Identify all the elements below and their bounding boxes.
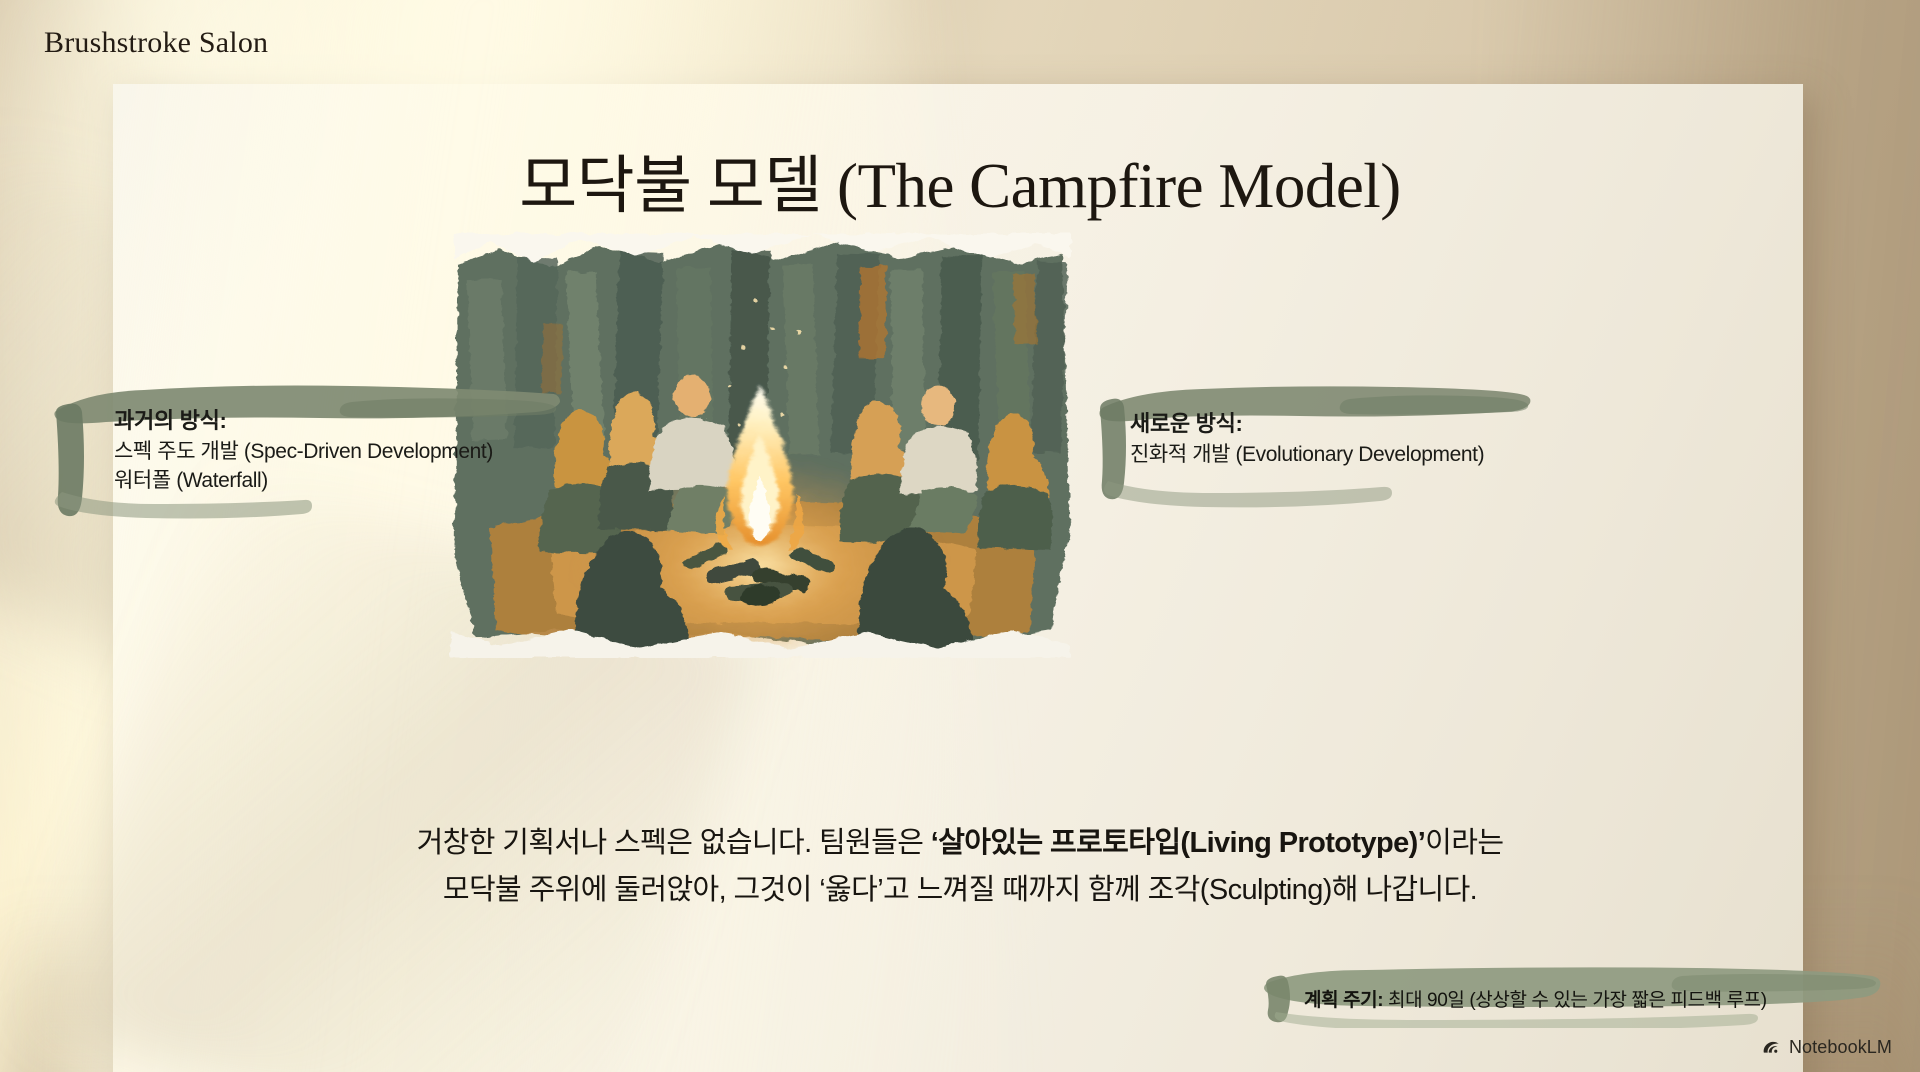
planning-cycle-label: 계획 주기:: [1304, 990, 1383, 1011]
body-line-2: 모닥불 주위에 둘러앉아, 그것이 ‘옳다’고 느껴질 때까지 함께 조각(Sc…: [180, 867, 1740, 914]
new-way-heading: 새로운 방식:: [1130, 409, 1530, 439]
brand-title: Brushstroke Salon: [44, 26, 268, 60]
old-way-callout: 과거의 방식: 스펙 주도 개발 (Spec-Driven Developmen…: [52, 352, 562, 522]
body-line-1-part-b: 이라는: [1425, 827, 1503, 859]
old-way-heading: 과거의 방식:: [114, 406, 562, 436]
slide-stage: Brushstroke Salon 모닥불 모델 (The Campfire M…: [0, 0, 1920, 1072]
planning-cycle-value: 최대 90일 (상상할 수 있는 가장 짧은 피드백 루프): [1383, 990, 1767, 1011]
body-line-1-part-a: 거창한 기획서나 스펙은 없습니다. 팀원들은: [417, 827, 931, 859]
new-way-callout: 새로운 방식: 진화적 개발 (Evolutionary Development…: [1100, 355, 1530, 505]
old-way-line-1: 스펙 주도 개발 (Spec-Driven Development): [114, 438, 562, 467]
planning-cycle-badge: 계획 주기: 최대 90일 (상상할 수 있는 가장 짧은 피드백 루프): [1262, 966, 1882, 1028]
body-line-1: 거창한 기획서나 스펙은 없습니다. 팀원들은 ‘살아있는 프로토타입(Livi…: [180, 820, 1740, 867]
new-way-line-1: 진화적 개발 (Evolutionary Development): [1130, 441, 1530, 470]
body-paragraph: 거창한 기획서나 스펙은 없습니다. 팀원들은 ‘살아있는 프로토타입(Livi…: [180, 820, 1740, 914]
notebooklm-label: NotebookLM: [1789, 1037, 1892, 1058]
body-line-1-emphasis: ‘살아있는 프로토타입(Living Prototype)’: [931, 827, 1425, 859]
page-title: 모닥불 모델 (The Campfire Model): [0, 135, 1920, 226]
planning-cycle-text: 계획 주기: 최대 90일 (상상할 수 있는 가장 짧은 피드백 루프): [1262, 966, 1882, 1012]
notebooklm-spiral-icon: [1760, 1036, 1782, 1058]
notebooklm-footer: NotebookLM: [1760, 1036, 1892, 1058]
old-way-line-2: 워터폴 (Waterfall): [114, 467, 562, 496]
